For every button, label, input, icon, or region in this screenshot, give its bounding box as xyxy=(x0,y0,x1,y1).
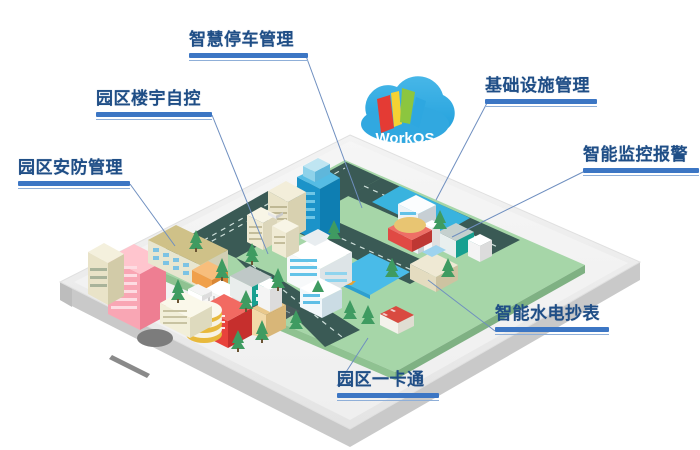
callout-underline xyxy=(495,327,609,335)
callout-underline xyxy=(583,168,699,176)
callout-smart-parking-management[interactable]: 智慧停车管理 xyxy=(189,30,308,61)
callout-label-text: 智能监控报警 xyxy=(583,145,699,165)
callout-smart-utility-metering[interactable]: 智能水电抄表 xyxy=(495,304,609,335)
callout-label-text: 智能水电抄表 xyxy=(495,304,609,324)
callout-label-text: 基础设施管理 xyxy=(485,76,597,96)
callout-underline xyxy=(18,181,130,189)
callout-label-text: 园区安防管理 xyxy=(18,158,130,178)
callout-underline xyxy=(189,53,308,61)
home-button[interactable] xyxy=(137,329,173,347)
callout-park-security-management[interactable]: 园区安防管理 xyxy=(18,158,130,189)
workos-cloud-logo[interactable]: WorkOS xyxy=(361,76,455,147)
callout-smart-surveillance-alarm[interactable]: 智能监控报警 xyxy=(583,145,699,176)
callout-underline xyxy=(337,393,439,401)
callout-park-building-automation[interactable]: 园区楼宇自控 xyxy=(96,89,212,120)
callout-label-text: 园区楼宇自控 xyxy=(96,89,212,109)
callout-label-text: 智慧停车管理 xyxy=(189,30,308,50)
callout-park-all-in-one-card[interactable]: 园区一卡通 xyxy=(337,370,439,401)
building-white-right-small xyxy=(468,234,492,262)
callout-label-text: 园区一卡通 xyxy=(337,370,439,390)
illustration-stage: WorkOS 园区安防管理 园区楼宇自控 智慧停车管理 基础设施管理 智能监控报… xyxy=(0,0,700,450)
callout-infrastructure-management[interactable]: 基础设施管理 xyxy=(485,76,597,107)
callout-underline xyxy=(96,112,212,120)
callout-underline xyxy=(485,99,597,107)
workos-logo-text: WorkOS xyxy=(376,130,435,147)
building-left-beige xyxy=(88,243,124,305)
speaker-slot xyxy=(109,355,150,378)
